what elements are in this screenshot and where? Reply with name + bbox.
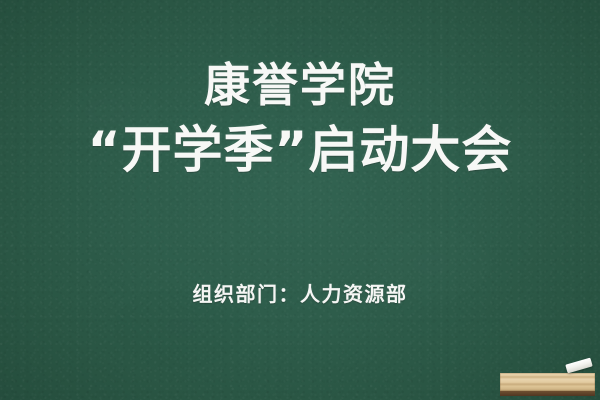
slide-title: 康誉学院 “开学季”启动大会 xyxy=(0,62,600,175)
chalk-ledge-icon xyxy=(500,373,595,396)
chalk-ledge-surface xyxy=(500,373,595,391)
slide-content: 康誉学院 “开学季”启动大会 组织部门：人力资源部 xyxy=(0,0,600,400)
title-line-2: “开学季”启动大会 xyxy=(0,125,600,175)
title-line-1: 康誉学院 xyxy=(0,62,600,108)
chalk-ledge-front-edge xyxy=(500,391,595,396)
slide-subtitle: 组织部门：人力资源部 xyxy=(0,278,600,307)
presentation-slide: 康誉学院 “开学季”启动大会 组织部门：人力资源部 xyxy=(0,0,600,400)
